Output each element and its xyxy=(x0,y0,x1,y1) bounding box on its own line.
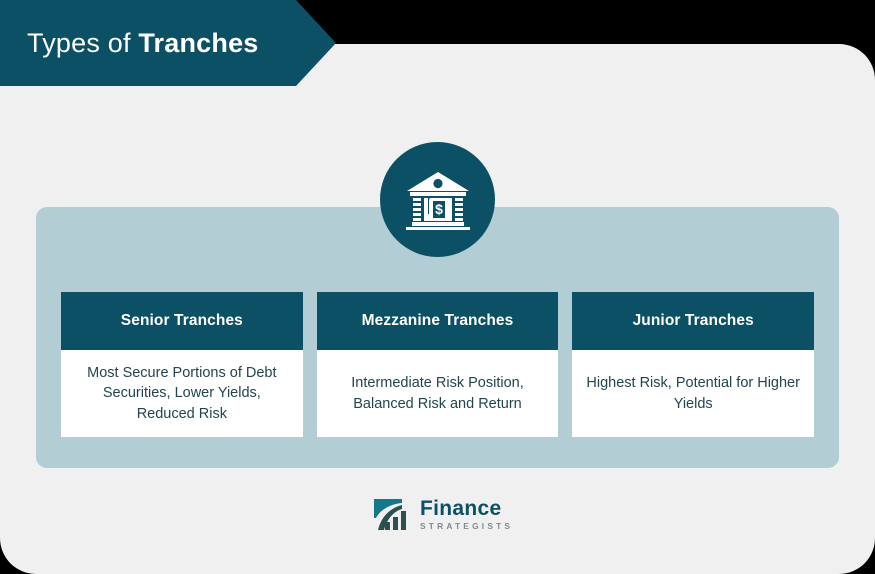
page-title-regular: Types of xyxy=(27,28,138,58)
tranche-description: Intermediate Risk Position, Balanced Ris… xyxy=(317,350,559,437)
header-banner: Types of Tranches xyxy=(0,0,336,86)
brand-logo-secondary: STRATEGISTS xyxy=(420,522,513,530)
svg-text:$: $ xyxy=(435,201,443,217)
infographic-root: Types of Tranches xyxy=(0,0,875,574)
tranche-column-mezzanine: Mezzanine Tranches Intermediate Risk Pos… xyxy=(317,292,559,437)
tranche-column-junior: Junior Tranches Highest Risk, Potential … xyxy=(572,292,814,437)
page-title-bold: Tranches xyxy=(138,28,258,58)
tranche-column-senior: Senior Tranches Most Secure Portions of … xyxy=(61,292,303,437)
tranche-heading: Senior Tranches xyxy=(61,292,303,350)
tranche-description: Highest Risk, Potential for Higher Yield… xyxy=(572,350,814,437)
page-title: Types of Tranches xyxy=(0,28,259,59)
brand-logo-text: Finance STRATEGISTS xyxy=(420,498,513,530)
tranche-columns: Senior Tranches Most Secure Portions of … xyxy=(61,292,814,437)
bank-icon-badge: $ xyxy=(380,142,495,257)
tranche-heading: Mezzanine Tranches xyxy=(317,292,559,350)
tranche-description: Most Secure Portions of Debt Securities,… xyxy=(61,350,303,437)
finance-strategists-bridge-mark xyxy=(372,496,412,532)
tranche-heading: Junior Tranches xyxy=(572,292,814,350)
brand-logo-primary: Finance xyxy=(420,498,513,519)
bank-building-icon: $ xyxy=(406,170,470,230)
brand-logo: Finance STRATEGISTS xyxy=(372,496,513,532)
